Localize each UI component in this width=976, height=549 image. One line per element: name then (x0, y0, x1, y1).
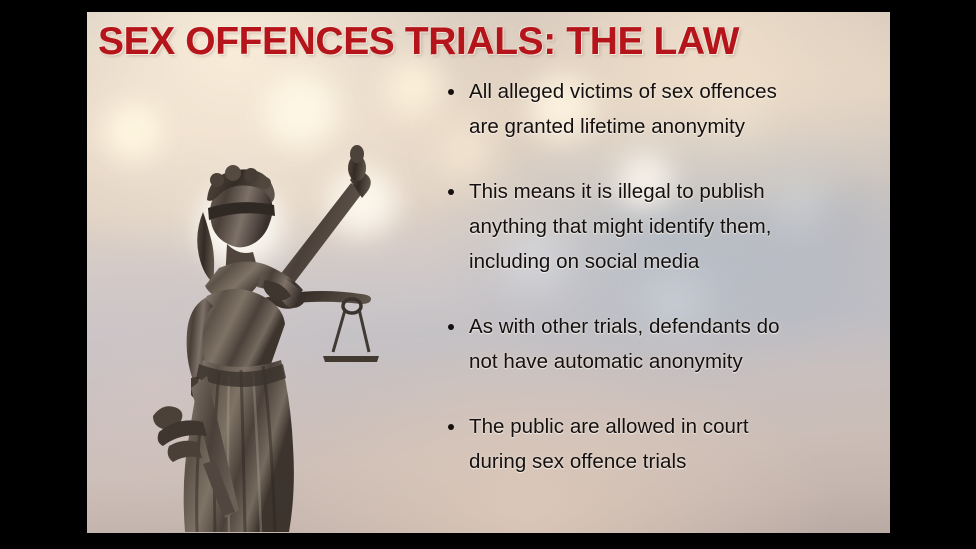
bullet-text-line: during sex offence trials (469, 444, 869, 479)
bullet-text-line: are granted lifetime anonymity (469, 109, 869, 144)
bullet-marker-icon (448, 424, 454, 430)
bullet-list: All alleged victims of sex offencesare g… (439, 74, 869, 479)
letterbox-bar-left (0, 0, 87, 549)
bullet-text-line: anything that might identify them, (469, 209, 869, 244)
bullet-item: This means it is illegal to publishanyth… (439, 174, 869, 279)
bullet-text-line: including on social media (469, 244, 869, 279)
bullet-text-line: All alleged victims of sex offences (469, 74, 869, 109)
page-title: SEX OFFENCES TRIALS: THE LAW (98, 22, 878, 61)
letterbox-bar-bottom (0, 533, 976, 549)
bullet-text-line: The public are allowed in court (469, 409, 869, 444)
letterbox-bar-top (0, 0, 976, 12)
bullet-marker-icon (448, 324, 454, 330)
slide-root: SEX OFFENCES TRIALS: THE LAW All alleged… (0, 0, 976, 549)
bullet-item: The public are allowed in courtduring se… (439, 409, 869, 479)
bullet-text-line: This means it is illegal to publish (469, 174, 869, 209)
bullet-text-line: not have automatic anonymity (469, 344, 869, 379)
bullet-marker-icon (448, 189, 454, 195)
slide-image-area: SEX OFFENCES TRIALS: THE LAW All alleged… (87, 12, 890, 533)
bullet-marker-icon (448, 89, 454, 95)
letterbox-bar-right (890, 0, 976, 549)
bullet-item: All alleged victims of sex offencesare g… (439, 74, 869, 144)
bullet-text-line: As with other trials, defendants do (469, 309, 869, 344)
bullet-item: As with other trials, defendants donot h… (439, 309, 869, 379)
